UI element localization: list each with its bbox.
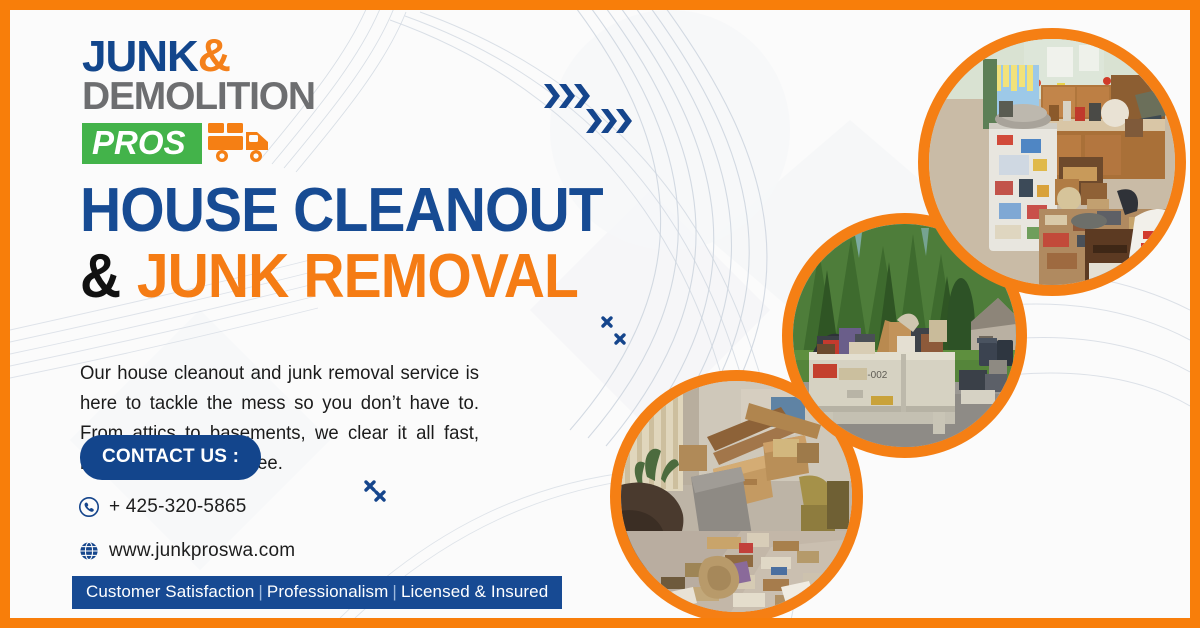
globe-icon-svg — [78, 540, 100, 562]
logo-text-ampersand: & — [198, 29, 230, 81]
logo-text-demolition: DEMOLITION — [82, 78, 362, 116]
headline-text-junk-removal: JUNK REMOVAL — [137, 242, 578, 311]
logo-line-junk: JUNK& — [82, 34, 362, 78]
logo-text-junk: JUNK — [82, 32, 198, 81]
brand-logo[interactable]: JUNK& DEMOLITION PROS — [82, 34, 362, 168]
x-mark-pair-right — [598, 313, 632, 354]
feature-licensed-insured: Licensed & Insured — [401, 582, 548, 601]
feature-separator-2: | — [388, 582, 401, 601]
dump-truck-icon — [206, 119, 274, 168]
feature-professionalism: Professionalism — [267, 582, 389, 601]
logo-text-pros: PROS — [92, 126, 186, 159]
chevron-group-lower-svg — [586, 107, 646, 135]
page-title: HOUSE CLEANOUT &JUNK REMOVAL — [80, 178, 680, 310]
headline-line-2: &JUNK REMOVAL — [80, 244, 632, 310]
logo-pros-green-bar: PROS — [82, 123, 202, 164]
phone-icon — [78, 496, 100, 518]
contact-website-row[interactable]: www.junkproswa.com — [78, 534, 418, 568]
chevron-group-lower — [586, 107, 646, 140]
features-bar-content: Customer Satisfaction|Professionalism|Li… — [86, 582, 548, 601]
promotional-banner: JUNK& DEMOLITION PROS — [0, 0, 1200, 628]
photo-cluttered-kitchen-svg — [929, 39, 1175, 285]
features-bar: Customer Satisfaction|Professionalism|Li… — [72, 576, 562, 609]
globe-icon — [78, 540, 100, 562]
feature-customer-satisfaction: Customer Satisfaction — [86, 582, 254, 601]
contact-phone-number: + 425-320-5865 — [109, 496, 247, 518]
headline-ampersand: & — [80, 242, 120, 311]
contact-website-url: www.junkproswa.com — [109, 540, 295, 562]
dump-truck-icon-svg — [206, 119, 274, 163]
logo-line-pros: PROS — [82, 119, 362, 168]
contact-us-button[interactable]: CONTACT US : — [80, 435, 261, 480]
chevron-group-upper-svg — [544, 82, 604, 110]
feature-separator-1: | — [254, 582, 267, 601]
phone-icon-svg — [78, 496, 100, 518]
x-mark-pair-left — [362, 478, 394, 513]
x-mark-pair-left-svg — [362, 478, 394, 508]
x-mark-pair-right-svg — [598, 313, 632, 349]
photo-cluttered-kitchen — [918, 28, 1186, 296]
headline-line-1: HOUSE CLEANOUT — [80, 178, 632, 244]
